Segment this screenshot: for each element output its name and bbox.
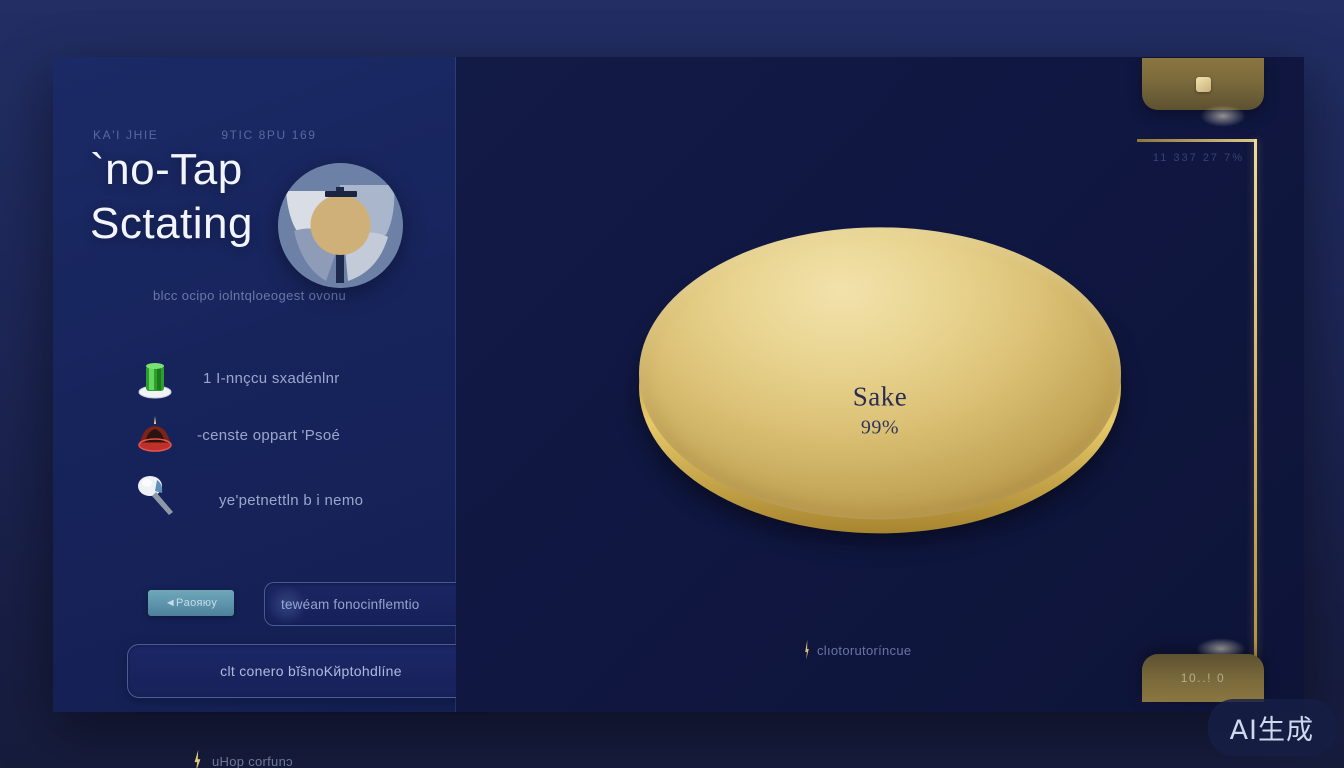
feature-item-2[interactable]: -censte oppart 'Psoé <box>53 407 455 464</box>
search-input[interactable]: tewéam fonocinflemtio <box>264 582 484 626</box>
sidebar-footer-label: uHop corfunɔ <box>212 754 293 768</box>
kicker-left: KA'I JHIE <box>93 128 158 142</box>
green-cylinder-icon <box>133 357 177 401</box>
bottom-right-tab[interactable]: 10..! 0 <box>1142 654 1264 702</box>
disc-surface <box>639 227 1121 519</box>
red-dome-icon <box>133 414 177 458</box>
sidebar-kicker: KA'I JHIE 9TIC 8PU 169 <box>93 128 317 142</box>
gold-disc[interactable]: Sake 99% <box>639 227 1121 519</box>
page-subtitle: blcc ocipo iolntqloeogest ovonu <box>153 288 346 303</box>
bottom-tab-label: 10..! 0 <box>1181 671 1226 685</box>
disc-title: Sake <box>639 382 1121 413</box>
primary-action-button[interactable]: clt conero bĭŝnoKйptohdlíne <box>127 644 495 698</box>
square-chip-icon <box>1196 77 1211 92</box>
sidebar: KA'I JHIE 9TIC 8PU 169 `no-Tap Sctating … <box>53 57 456 712</box>
disc-text: Sake 99% <box>639 382 1121 440</box>
gold-frame-right <box>1254 139 1257 660</box>
silver-spoon-icon <box>133 471 177 515</box>
lightning-bolt-icon <box>193 750 202 768</box>
top-right-tab[interactable] <box>1142 58 1264 110</box>
feature-label-1: 1 I-nnçcu sxadénlnr <box>203 370 340 387</box>
app-card: KA'I JHIE 9TIC 8PU 169 `no-Tap Sctating … <box>53 57 1304 712</box>
lightning-bolt-icon <box>804 640 810 660</box>
ai-watermark: AI生成 <box>1208 699 1336 756</box>
feature-label-2: -censte oppart 'Psoé <box>197 427 340 444</box>
feature-item-3[interactable]: ye'petnettln b i nemo <box>53 464 455 521</box>
profile-avatar[interactable] <box>278 163 403 288</box>
main-footer: clıotorutoríncue <box>804 640 911 660</box>
avatar-graphic <box>278 163 403 288</box>
feature-item-1[interactable]: 1 I-nnçcu sxadénlnr <box>53 350 455 407</box>
top-tab-label: 11 337 27 7% <box>1153 152 1244 164</box>
sidebar-footer: uHop corfunɔ <box>193 750 293 768</box>
primary-action-label: clt conero bĭŝnoKйptohdlíne <box>220 663 402 679</box>
disc-percent: 99% <box>639 417 1121 440</box>
main-panel: 11 337 27 7% Sake 99% clıotorutoríncue 1… <box>456 57 1304 712</box>
feature-list: 1 I-nnçcu sxadénlnr -censte oppart 'Psoé <box>53 350 455 521</box>
search-input-value: tewéam fonocinflemtio <box>281 597 420 612</box>
feature-label-3: ye'petnettln b i nemo <box>219 492 363 509</box>
gold-frame-top <box>1137 139 1257 142</box>
propios-badge-button[interactable]: ◄Paoяюу <box>148 590 234 616</box>
kicker-right: 9TIC 8PU 169 <box>221 128 316 142</box>
page-title: `no-Tap Sctating <box>90 143 253 251</box>
propios-badge-label: ◄Paoяюу <box>165 597 217 609</box>
main-footer-label: clıotorutoríncue <box>817 643 911 658</box>
